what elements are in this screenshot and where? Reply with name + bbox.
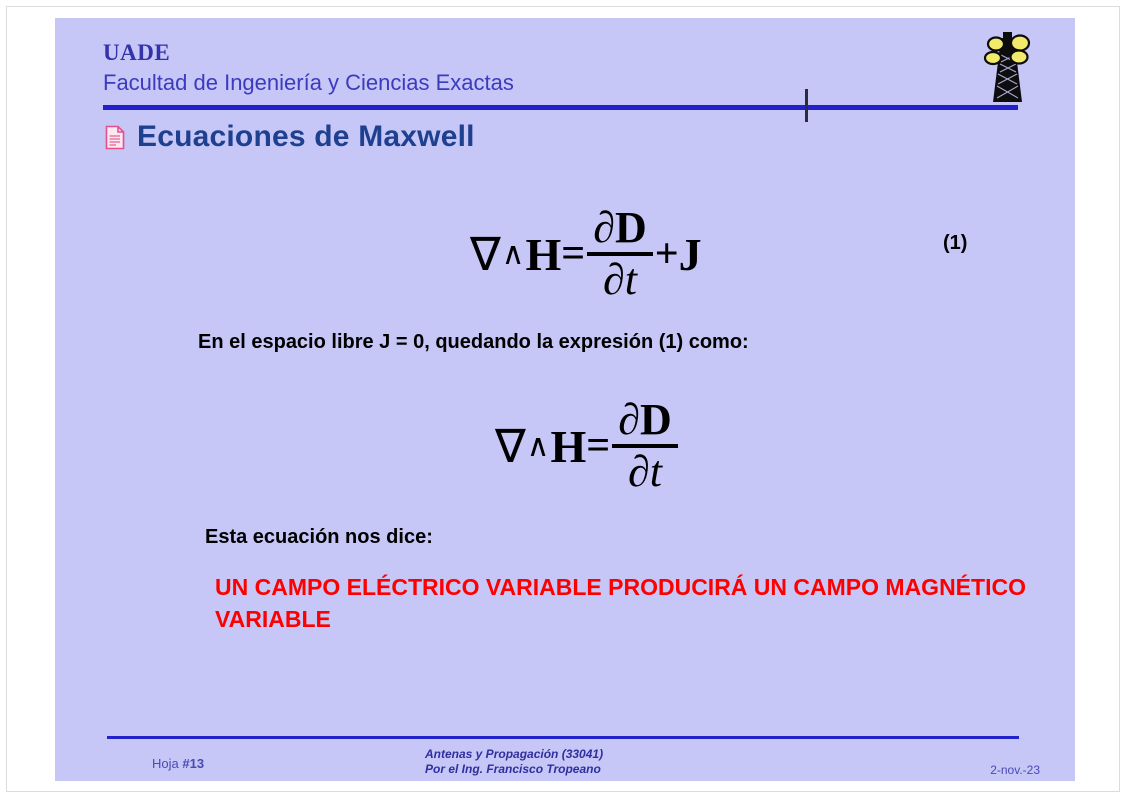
equation-maxwell-ampere: ∇ ∧ H = ∂D ∂t + J	[470, 204, 702, 304]
footer-date: 2-nov.-23	[950, 763, 1040, 777]
header-tick-mark	[805, 89, 808, 122]
plus-symbol: +	[655, 230, 679, 278]
current-density-j-symbol: J	[679, 228, 702, 281]
slide-title-row: Ecuaciones de Maxwell	[105, 120, 475, 154]
fraction-denominator: ∂t	[622, 448, 668, 496]
equation-number-label: (1)	[943, 232, 967, 255]
field-h-symbol: H	[525, 228, 561, 281]
field-h-symbol: H	[550, 420, 586, 473]
equation-free-space: ∇ ∧ H = ∂D ∂t	[495, 396, 680, 496]
page-number-value: #13	[182, 756, 204, 771]
fraction-numerator: ∂D	[612, 396, 678, 444]
partial-symbol-denominator: ∂	[628, 447, 650, 496]
fraction-numerator: ∂D	[587, 204, 653, 252]
page-title: Ecuaciones de Maxwell	[137, 120, 475, 154]
conclusion-statement: UN CAMPO ELÉCTRICO VARIABLE PRODUCIRÁ UN…	[215, 571, 1045, 635]
nabla-symbol: ∇	[495, 419, 526, 473]
document-icon	[105, 125, 125, 150]
footer-divider	[107, 736, 1019, 739]
wedge-symbol: ∧	[501, 236, 526, 272]
field-d-symbol: D	[640, 395, 672, 444]
field-d-symbol: D	[615, 203, 647, 252]
equals-symbol: =	[561, 230, 585, 278]
faculty-name: Facultad de Ingeniería y Ciencias Exacta…	[103, 68, 1023, 98]
course-author: Por el Ing. Francisco Tropeano	[425, 762, 603, 777]
partial-symbol-denominator: ∂	[603, 255, 625, 304]
time-variable: t	[650, 447, 662, 496]
partial-symbol-numerator: ∂	[618, 395, 640, 444]
equation-lead-text: Esta ecuación nos dice:	[205, 526, 433, 549]
time-variable: t	[625, 255, 637, 304]
presentation-page: UADE Facultad de Ingeniería y Ciencias E…	[0, 0, 1128, 800]
partial-derivative-fraction: ∂D ∂t	[612, 396, 678, 496]
institution-name: UADE	[103, 40, 1023, 66]
page-number-prefix: Hoja	[152, 756, 182, 771]
partial-derivative-fraction: ∂D ∂t	[587, 204, 653, 304]
header-divider	[103, 105, 1018, 110]
slide-canvas: UADE Facultad de Ingeniería y Ciencias E…	[55, 18, 1075, 781]
wedge-symbol: ∧	[526, 428, 551, 464]
equals-symbol: =	[586, 422, 610, 470]
slide-header: UADE Facultad de Ingeniería y Ciencias E…	[103, 40, 1023, 98]
fraction-denominator: ∂t	[597, 256, 643, 304]
footer-course-info: Antenas y Propagación (33041) Por el Ing…	[425, 747, 603, 777]
course-name: Antenas y Propagación (33041)	[425, 747, 603, 762]
page-number-label: Hoja #13	[152, 756, 204, 771]
partial-symbol-numerator: ∂	[593, 203, 615, 252]
free-space-note: En el espacio libre J = 0, quedando la e…	[198, 331, 749, 354]
nabla-symbol: ∇	[470, 227, 501, 281]
antenna-tower-icon	[975, 28, 1037, 110]
